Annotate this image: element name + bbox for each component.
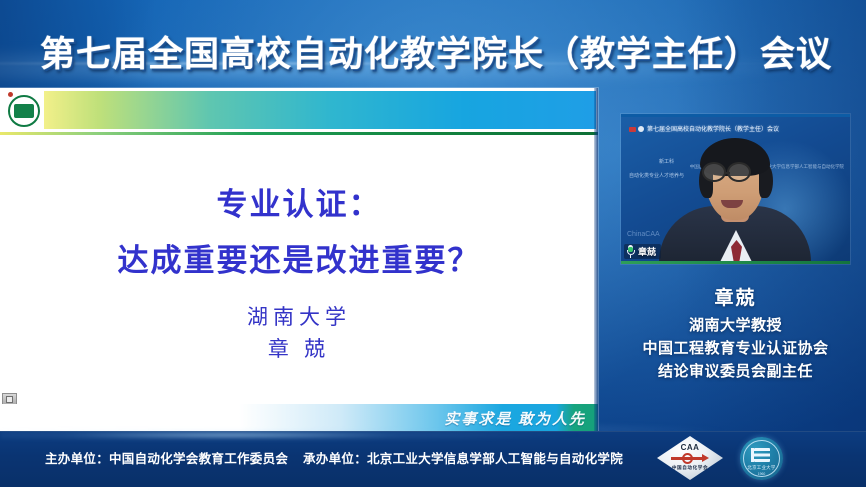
speaker-name: 章兢	[621, 283, 850, 310]
avatar-glasses-left	[702, 162, 726, 182]
bjut-logo-text: 北京工业大学	[740, 465, 783, 471]
slide-gradient-bar	[44, 91, 596, 129]
participant-name-label: 章兢	[638, 245, 656, 258]
hunan-university-emblem-icon	[6, 92, 42, 130]
bjut-logo-icon: 北京工业大学 1960	[740, 437, 783, 480]
video-overlay-title: 第七届全国高校自动化教学院长（教学主任）会议	[629, 124, 846, 133]
avatar-glasses-bridge	[725, 172, 730, 174]
slide-title-line-2: 达成重要还是改进重要？	[0, 235, 598, 280]
caa-ring	[682, 453, 693, 464]
emblem-seal	[8, 95, 40, 127]
video-tile[interactable]: 第七届全国高校自动化教学院长（教学主任）会议 新工科 自动化类专业人才培养与 中…	[621, 114, 850, 264]
bjut-badge-icon	[638, 126, 644, 132]
footer-organizer: 主办单位：中国自动化学会教育工作委员会	[45, 448, 288, 467]
video-overlay-sub1: 新工科	[659, 158, 674, 165]
emblem-red-dot	[8, 92, 13, 97]
slide-title-line-1: 专业认证：	[0, 179, 598, 224]
bjut-monogram	[754, 448, 770, 462]
caa-logo-text: CAA	[657, 443, 723, 452]
conference-stream-screen: 第七届全国高校自动化教学院长（教学主任）会议 专业认证： 达成重要还是改进重要？…	[0, 0, 866, 487]
slide-motto: 实事求是 敢为人先	[444, 408, 586, 429]
microphone-icon	[626, 245, 635, 258]
footer-bar: 主办单位：中国自动化学会教育工作委员会 承办单位：北京工业大学信息学部人工智能与…	[0, 431, 866, 487]
speaker-title-line-2: 中国工程教育专业认证协会	[621, 337, 850, 358]
video-bottom-edge	[621, 261, 850, 264]
avatar-glasses-right	[727, 162, 751, 182]
slide-header-band	[0, 88, 598, 132]
header-banner: 第七届全国高校自动化教学院长（教学主任）会议	[0, 0, 866, 88]
caa-logo-icon: CAA 中国自动化学会	[657, 436, 723, 480]
footer-glow	[0, 428, 640, 442]
slide-right-edge	[594, 88, 598, 432]
caa-logo-subtext: 中国自动化学会	[657, 465, 723, 471]
speaker-title-line-1: 湖南大学教授	[621, 314, 850, 335]
participant-avatar	[675, 144, 795, 264]
slide-content-area: 专业认证： 达成重要还是改进重要？ 湖南大学 章 兢	[0, 135, 598, 385]
page-title: 第七届全国高校自动化教学院长（教学主任）会议	[40, 26, 832, 77]
caa-badge-icon	[629, 127, 636, 132]
video-overlay-title-text: 第七届全国高校自动化教学院长（教学主任）会议	[647, 127, 779, 133]
caa-arrowhead	[702, 454, 709, 462]
slide-author: 章 兢	[0, 333, 598, 363]
participant-name-badge: 章兢	[624, 244, 661, 259]
bjut-logo-year: 1960	[740, 472, 783, 476]
video-watermark: ChinaCAA	[627, 231, 660, 238]
caa-arrow-mark	[671, 453, 709, 464]
footer-co-organizer: 承办单位：北京工业大学信息学部人工智能与自动化学院	[303, 448, 623, 467]
slide-affiliation: 湖南大学	[0, 301, 598, 331]
presentation-slide[interactable]: 专业认证： 达成重要还是改进重要？ 湖南大学 章 兢 实事求是 敢为人先	[0, 88, 598, 432]
speaker-title-line-3: 结论审议委员会副主任	[621, 360, 850, 381]
video-top-edge	[621, 114, 850, 117]
mic-stem	[630, 255, 631, 258]
